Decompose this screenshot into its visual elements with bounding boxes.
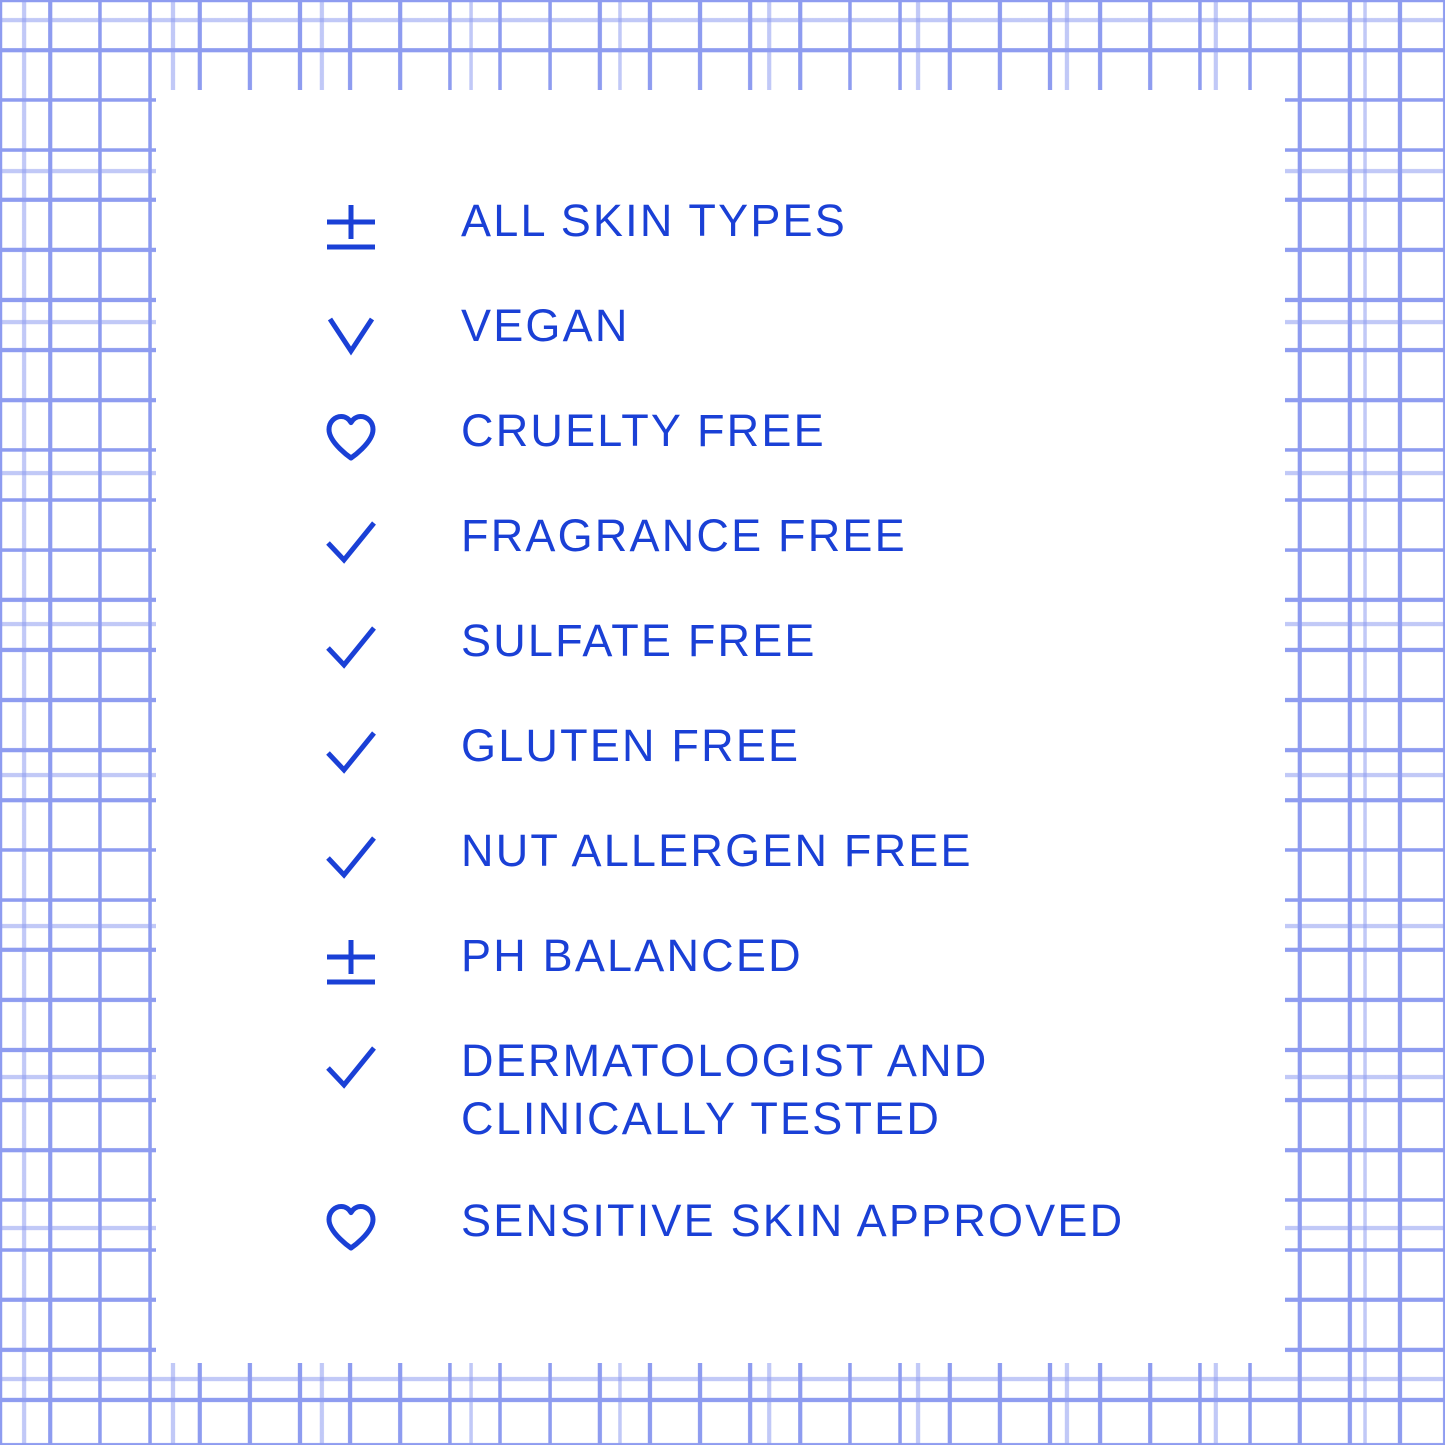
claim-item: ALL SKIN TYPES — [325, 190, 1225, 295]
claim-item: CRUELTY FREE — [325, 400, 1225, 505]
claim-label: NUT ALLERGEN FREE — [461, 820, 973, 880]
claim-label: SENSITIVE SKIN APPROVED — [461, 1190, 1124, 1250]
claim-label: SULFATE FREE — [461, 610, 817, 670]
claim-item: FRAGRANCE FREE — [325, 505, 1225, 610]
plus-minus-icon — [325, 925, 383, 997]
claim-label: PH BALANCED — [461, 925, 803, 985]
claim-label: GLUTEN FREE — [461, 715, 800, 775]
claim-item: DERMATOLOGIST AND CLINICALLY TESTED — [325, 1030, 1225, 1190]
check-icon — [325, 505, 383, 577]
claim-label: DERMATOLOGIST AND CLINICALLY TESTED — [461, 1030, 989, 1148]
claim-label: VEGAN — [461, 295, 630, 355]
check-icon — [325, 715, 383, 787]
check-icon — [325, 1030, 383, 1102]
check-icon — [325, 610, 383, 682]
chevron-down-icon — [325, 295, 383, 367]
claims-graphic: ALL SKIN TYPES VEGAN CRUELTY FREE — [0, 0, 1445, 1445]
claim-item: SENSITIVE SKIN APPROVED — [325, 1190, 1225, 1295]
heart-icon — [325, 400, 383, 472]
plus-minus-icon — [325, 190, 383, 262]
claim-item: PH BALANCED — [325, 925, 1225, 1030]
claim-item: GLUTEN FREE — [325, 715, 1225, 820]
claims-list: ALL SKIN TYPES VEGAN CRUELTY FREE — [325, 190, 1225, 1295]
claim-item: NUT ALLERGEN FREE — [325, 820, 1225, 925]
check-icon — [325, 820, 383, 892]
heart-icon — [325, 1190, 383, 1262]
claim-label: FRAGRANCE FREE — [461, 505, 907, 565]
claim-item: SULFATE FREE — [325, 610, 1225, 715]
claim-item: VEGAN — [325, 295, 1225, 400]
claim-label: CRUELTY FREE — [461, 400, 826, 460]
claim-label: ALL SKIN TYPES — [461, 190, 847, 250]
